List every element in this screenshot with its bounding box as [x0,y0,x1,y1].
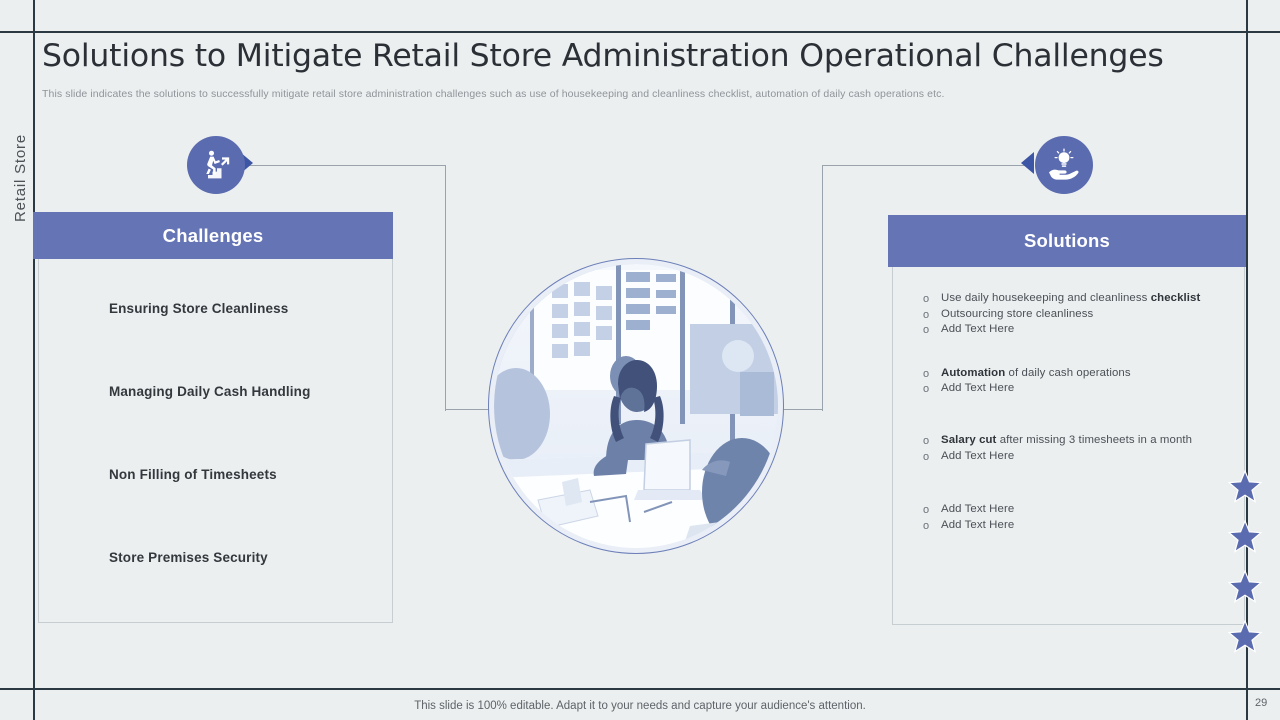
bullet-icon: o [923,519,929,535]
slide-canvas: Retail Store Solutions to Mitigate Retai… [0,0,1280,720]
side-label-text: Retail Store [12,92,29,222]
solution-bullet: oUse daily housekeeping and cleanliness … [921,291,1244,307]
solution-bullet: oAdd Text Here [921,449,1244,465]
bullet-icon: o [923,450,929,466]
challenges-body: Ensuring Store CleanlinessManaging Daily… [38,259,393,623]
challenges-panel: Challenges Ensuring Store CleanlinessMan… [33,212,393,623]
star-decoration-group [1228,470,1262,670]
solution-group: oUse daily housekeeping and cleanliness … [921,291,1244,338]
solutions-list: oUse daily housekeeping and cleanliness … [893,267,1244,533]
page-subtitle: This slide indicates the solutions to su… [42,88,944,100]
solutions-panel: Solutions oUse daily housekeeping and cl… [888,215,1246,625]
solution-bullet: oAdd Text Here [921,518,1244,534]
challenge-item: Non Filling of Timesheets [109,467,392,482]
star-icon [1228,470,1262,508]
photo-inner [494,264,778,548]
solution-bullet: oAdd Text Here [921,381,1244,397]
solution-bullet: oAdd Text Here [921,322,1244,338]
frame-rule-bottom [0,688,1280,690]
bullet-icon: o [923,503,929,519]
challenge-item: Ensuring Store Cleanliness [109,301,392,316]
footer-note: This slide is 100% editable. Adapt it to… [0,700,1280,712]
solution-group: oAutomation of daily cash operationsoAdd… [921,366,1244,397]
side-label: Retail Store [12,0,29,92]
page-number: 29 [1255,697,1267,709]
bullet-icon: o [923,292,929,308]
solution-bullet: oSalary cut after missing 3 timesheets i… [921,433,1244,449]
challenge-item: Store Premises Security [109,550,392,565]
bullet-icon: o [923,367,929,383]
bullet-icon: o [923,308,929,324]
arrow-right-icon [1021,152,1034,174]
frame-rule-top [0,31,1280,33]
challenges-heading: Challenges [33,212,393,259]
solution-group: oAdd Text HereoAdd Text Here [921,502,1244,533]
solution-bullet: oAdd Text Here [921,502,1244,518]
star-icon [1228,570,1262,608]
team-meeting-photo [488,258,784,554]
challenges-list: Ensuring Store CleanlinessManaging Daily… [39,259,392,565]
star-icon [1228,520,1262,558]
page-title: Solutions to Mitigate Retail Store Admin… [42,38,1164,74]
solutions-heading: Solutions [888,215,1246,267]
challenge-item: Managing Daily Cash Handling [109,384,392,399]
solution-group: oSalary cut after missing 3 timesheets i… [921,433,1244,464]
hand-idea-icon [1035,136,1093,194]
solutions-body: oUse daily housekeeping and cleanliness … [892,267,1245,625]
solution-bullet: oOutsourcing store cleanliness [921,307,1244,323]
solution-bullet: oAutomation of daily cash operations [921,366,1244,382]
bullet-icon: o [923,382,929,398]
bullet-icon: o [923,434,929,450]
stairs-growth-icon [187,136,245,194]
star-icon [1228,620,1262,658]
bullet-icon: o [923,323,929,339]
